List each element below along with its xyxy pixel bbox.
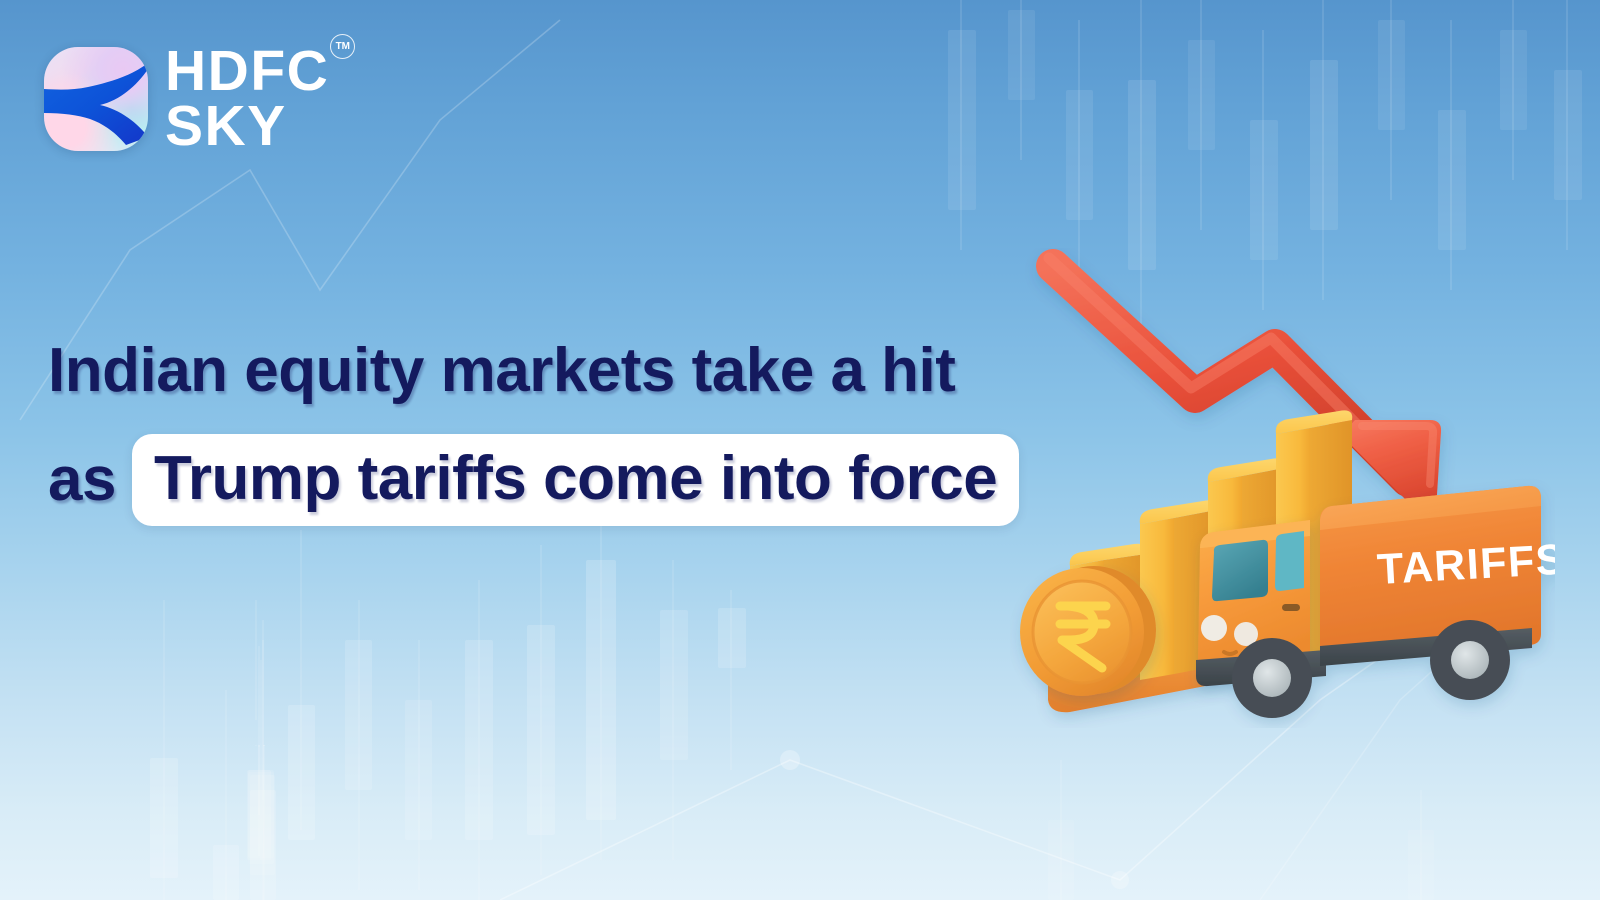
hdfc-sky-wordmark: HDFC SKY TM bbox=[165, 44, 329, 153]
headline-prefix: as bbox=[48, 449, 116, 511]
trademark-icon: TM bbox=[330, 34, 355, 59]
tariffs-market-decline-illustration: TARIFFS bbox=[1010, 248, 1555, 728]
headline-line-1: Indian equity markets take a hit bbox=[48, 340, 1038, 402]
headline-highlight: Trump tariffs come into force bbox=[132, 434, 1019, 526]
rupee-coin-icon bbox=[1020, 566, 1156, 696]
headline-block: Indian equity markets take a hit as Trum… bbox=[48, 340, 1038, 526]
truck-label-tariffs: TARIFFS bbox=[1376, 536, 1555, 594]
truck-rear-wheel bbox=[1430, 620, 1510, 700]
poster-canvas: HDFC SKY TM Indian equity markets take a… bbox=[0, 0, 1600, 900]
headline-line-2: as Trump tariffs come into force bbox=[48, 434, 1038, 526]
logo-line-hdfc: HDFC bbox=[165, 44, 329, 99]
logo-line-sky: SKY bbox=[165, 99, 329, 154]
hdfc-sky-swoosh-icon bbox=[44, 47, 148, 151]
truck-front-wheel bbox=[1232, 638, 1312, 718]
hdfc-sky-logo[interactable]: HDFC SKY TM bbox=[44, 44, 329, 153]
